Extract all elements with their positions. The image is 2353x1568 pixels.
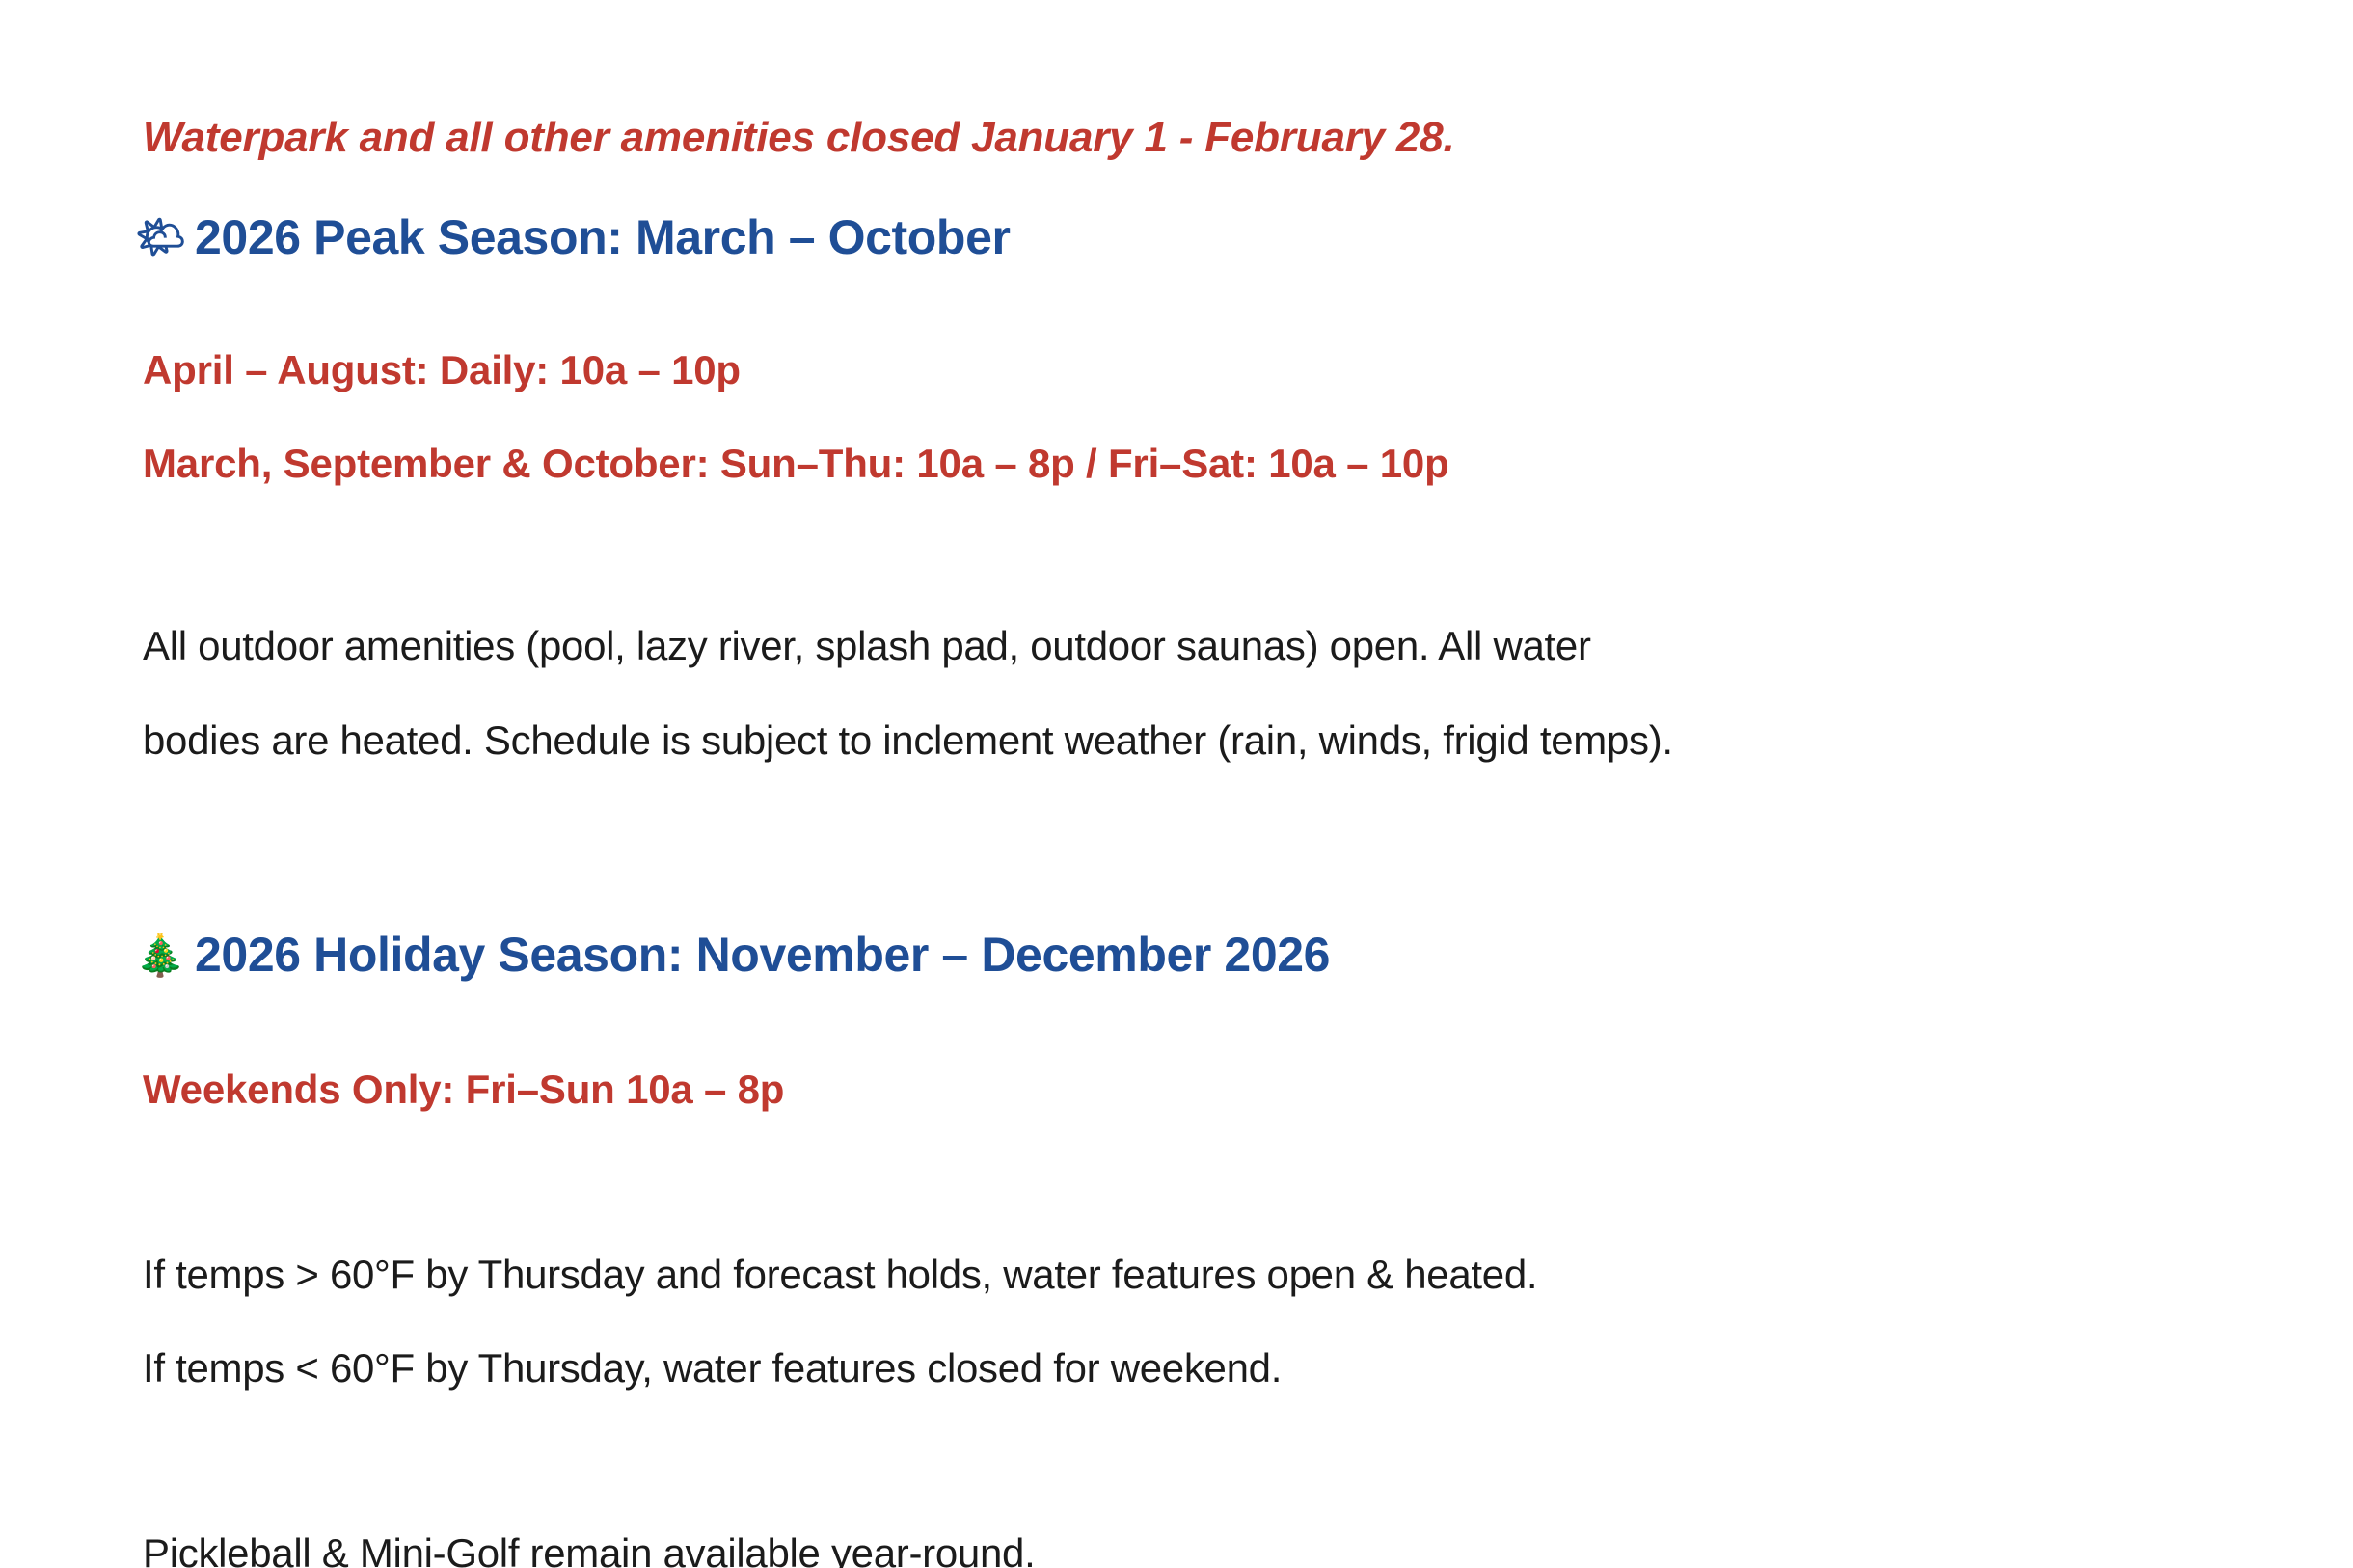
peak-season-heading-text: 2026 Peak Season: March – October (195, 211, 1011, 264)
closure-notice: Waterpark and all other amenities closed… (143, 114, 2237, 163)
condition-line: If temps < 60°F by Thursday, water featu… (143, 1341, 2237, 1395)
sun-behind-cloud-icon: 🌤 (135, 217, 181, 257)
document-content: Waterpark and all other amenities closed… (135, 114, 2237, 1568)
holiday-season-schedule: Weekends Only: Fri–Sun 10a – 8p (135, 1063, 2237, 1116)
temperature-conditions: If temps > 60°F by Thursday and forecast… (135, 1248, 2237, 1396)
peak-season-description: All outdoor amenities (pool, lazy river,… (135, 619, 2237, 768)
schedule-line: Weekends Only: Fri–Sun 10a – 8p (143, 1063, 2237, 1116)
holiday-season-heading-text: 2026 Holiday Season: November – December… (195, 929, 1330, 982)
peak-season-schedule: April – August: Daily: 10a – 10p March, … (135, 343, 2237, 491)
schedule-line: April – August: Daily: 10a – 10p (143, 343, 2237, 396)
document-page: Waterpark and all other amenities closed… (0, 0, 2353, 1568)
year-round-notes: Pickleball & Mini-Golf remain available … (135, 1527, 2237, 1568)
peak-season-heading: 🌤 2026 Peak Season: March – October (135, 211, 2237, 264)
holiday-season-heading: 🎄 2026 Holiday Season: November – Decemb… (135, 929, 2237, 982)
description-line: bodies are heated. Schedule is subject t… (143, 714, 2237, 768)
schedule-line: March, September & October: Sun–Thu: 10a… (143, 437, 2237, 490)
note-line: Pickleball & Mini-Golf remain available … (143, 1527, 2237, 1568)
christmas-tree-icon: 🎄 (135, 935, 181, 976)
condition-line: If temps > 60°F by Thursday and forecast… (143, 1248, 2237, 1302)
description-line: All outdoor amenities (pool, lazy river,… (143, 619, 2237, 673)
